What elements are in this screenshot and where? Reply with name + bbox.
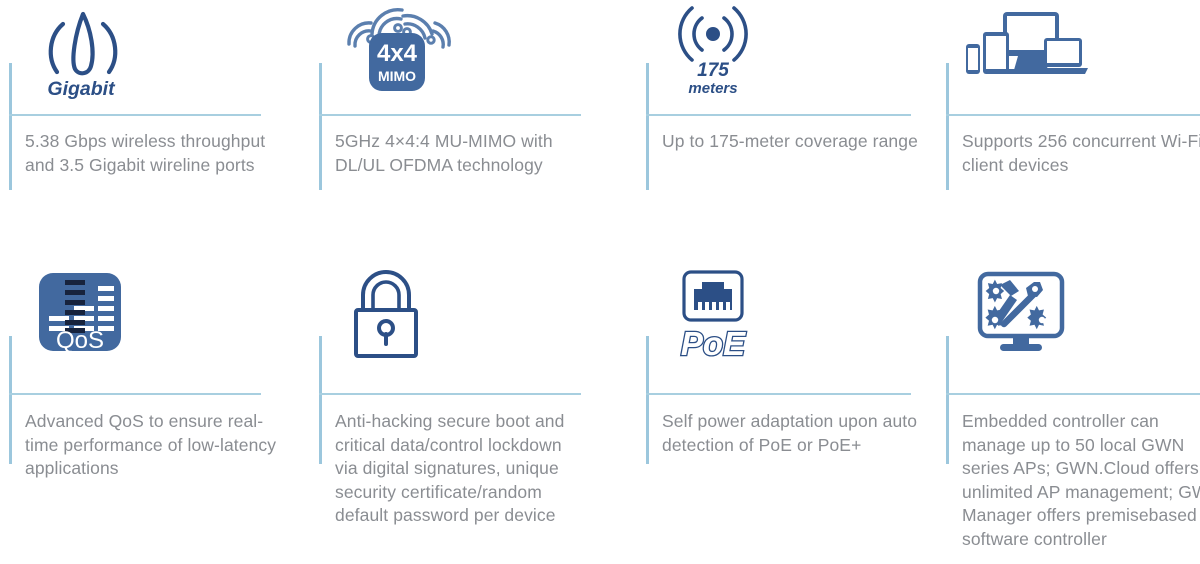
card-divider-rule: [646, 114, 911, 116]
card-divider-rule: [9, 114, 261, 116]
multi-device-clients-icon: [946, 0, 1200, 100]
card-divider-rule: [319, 114, 581, 116]
feature-card-poe: PoE Self power adaptation upon auto dete…: [637, 264, 937, 564]
feature-description: 5GHz 4×4:4 MU-MIMO with DL/UL OFDMA tech…: [335, 130, 585, 177]
card-accent-rule: [646, 63, 649, 190]
card-accent-rule: [946, 336, 949, 464]
qos-equalizer-icon: QoS: [9, 264, 264, 364]
feature-card-security: Anti-hacking secure boot and critical da…: [310, 264, 637, 564]
padlock-security-icon: [319, 264, 574, 364]
feature-description: 5.38 Gbps wireless throughput and 3.5 Gi…: [25, 130, 277, 177]
feature-description: Self power adaptation upon auto detectio…: [662, 410, 924, 457]
card-accent-rule: [9, 63, 12, 190]
feature-card-clients: Supports 256 concurrent Wi-Fi client dev…: [937, 0, 1200, 264]
card-accent-rule: [319, 63, 322, 190]
poe-ethernet-port-icon: PoE: [646, 264, 901, 364]
feature-description: Anti-hacking secure boot and critical da…: [335, 410, 585, 528]
card-divider-rule: [646, 393, 911, 395]
feature-description: Embedded controller can manage up to 50 …: [962, 410, 1200, 551]
feature-description: Supports 256 concurrent Wi-Fi client dev…: [962, 130, 1200, 177]
feature-card-qos: QoS Advanced QoS to ensure real-time per…: [0, 264, 310, 564]
card-accent-rule: [946, 63, 949, 190]
feature-description: Advanced QoS to ensure real-time perform…: [25, 410, 277, 481]
coverage-icon-label-secondary: meters: [688, 80, 737, 97]
mimo-icon-label-secondary: MIMO: [378, 68, 416, 84]
card-accent-rule: [646, 336, 649, 464]
embedded-controller-monitor-tools-icon: [946, 264, 1200, 364]
feature-card-controller: Embedded controller can manage up to 50 …: [937, 264, 1200, 564]
gigabit-icon-label: Gigabit: [47, 78, 116, 100]
card-accent-rule: [9, 336, 12, 464]
feature-card-gigabit: Gigabit 5.38 Gbps wireless throughput an…: [0, 0, 310, 264]
card-divider-rule: [946, 114, 1200, 116]
card-divider-rule: [946, 393, 1200, 395]
mimo-icon-label-primary: 4x4: [377, 40, 418, 67]
gigabit-speed-icon: Gigabit: [9, 0, 264, 100]
feature-description: Up to 175-meter coverage range: [662, 130, 924, 154]
wireless-coverage-range-icon: 175 meters: [646, 0, 901, 100]
card-divider-rule: [9, 393, 261, 395]
wifi-4x4-mimo-icon: 4x4 MIMO: [319, 0, 574, 100]
feature-card-coverage: 175 meters Up to 175-meter coverage rang…: [637, 0, 937, 264]
feature-grid: Gigabit 5.38 Gbps wireless throughput an…: [0, 0, 1200, 564]
poe-icon-label: PoE: [681, 325, 746, 362]
coverage-icon-label-primary: 175: [697, 60, 729, 81]
feature-card-mimo: 4x4 MIMO 5GHz 4×4:4 MU-MIMO with DL/UL O…: [310, 0, 637, 264]
qos-icon-label: QoS: [56, 327, 104, 354]
card-accent-rule: [319, 336, 322, 464]
card-divider-rule: [319, 393, 581, 395]
